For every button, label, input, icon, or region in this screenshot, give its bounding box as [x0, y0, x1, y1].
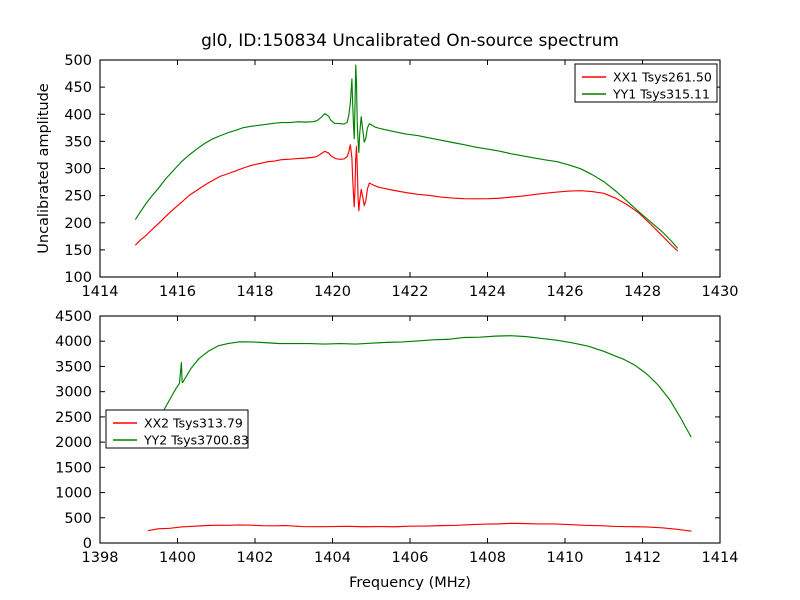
legend-top-label: YY1 Tsys315.11 — [612, 87, 710, 102]
legend-top[interactable]: XX1 Tsys261.50YY1 Tsys315.11 — [575, 64, 717, 102]
top-yticklabel: 100 — [64, 270, 92, 286]
bottom-xticklabel: 1408 — [469, 550, 506, 566]
top-ylabel: Uncalibrated amplitude — [36, 83, 52, 254]
top-panel-axes: 1414141614181420142214241426142814301001… — [36, 53, 738, 300]
bottom-yticklabel: 3000 — [55, 385, 92, 401]
bottom-yticklabel: 4500 — [55, 309, 92, 325]
bottom-yticklabel: 1000 — [55, 486, 92, 502]
bottom-yticklabel: 1500 — [55, 460, 92, 476]
top-xticklabel: 1424 — [469, 284, 506, 300]
legend-top-label: XX1 Tsys261.50 — [613, 70, 712, 85]
bottom-yticklabel: 2500 — [55, 410, 92, 426]
top-xticklabel: 1422 — [392, 284, 429, 300]
bottom-xlabel: Frequency (MHz) — [349, 575, 471, 591]
bottom-xticklabel: 1414 — [702, 550, 739, 566]
top-xticklabel: 1418 — [237, 284, 274, 300]
top-xticklabel: 1428 — [624, 284, 661, 300]
bottom-yticklabel: 2000 — [55, 435, 92, 451]
bottom-xticklabel: 1412 — [624, 550, 661, 566]
top-yticklabel: 450 — [64, 80, 92, 96]
figure-canvas: gl0, ID:150834 Uncalibrated On-source sp… — [0, 0, 800, 600]
bottom-yticklabel: 0 — [83, 536, 92, 552]
top-xticklabel: 1414 — [82, 284, 119, 300]
top-yticklabel: 500 — [64, 53, 92, 69]
bottom-xticklabel: 1398 — [82, 550, 119, 566]
bottom-xticklabel: 1404 — [314, 550, 351, 566]
top-yticklabel: 250 — [64, 189, 92, 205]
bottom-xticklabel: 1410 — [547, 550, 584, 566]
top-xticklabel: 1426 — [547, 284, 584, 300]
bottom-yticklabel: 500 — [64, 511, 92, 527]
bottom-yticklabel: 4000 — [55, 334, 92, 350]
legend-bottom-label: YY2 Tsys3700.83 — [143, 433, 249, 448]
top-yticklabel: 350 — [64, 134, 92, 150]
top-yticklabel: 200 — [64, 216, 92, 232]
top-yticklabel: 400 — [64, 107, 92, 123]
top-xticklabel: 1420 — [314, 284, 351, 300]
spectrum-figure: gl0, ID:150834 Uncalibrated On-source sp… — [0, 0, 800, 600]
top-xticklabel: 1430 — [702, 284, 739, 300]
legend-bottom[interactable]: XX2 Tsys313.79YY2 Tsys3700.83 — [106, 410, 249, 448]
top-yticklabel: 300 — [64, 162, 92, 178]
bottom-xticklabel: 1402 — [237, 550, 274, 566]
bottom-yticklabel: 3500 — [55, 359, 92, 375]
top-yticklabel: 150 — [64, 243, 92, 259]
bottom-xticklabel: 1406 — [392, 550, 429, 566]
bottom-xticklabel: 1400 — [159, 550, 196, 566]
figure-title: gl0, ID:150834 Uncalibrated On-source sp… — [201, 31, 619, 51]
top-xticklabel: 1416 — [159, 284, 196, 300]
legend-bottom-label: XX2 Tsys313.79 — [144, 416, 243, 431]
